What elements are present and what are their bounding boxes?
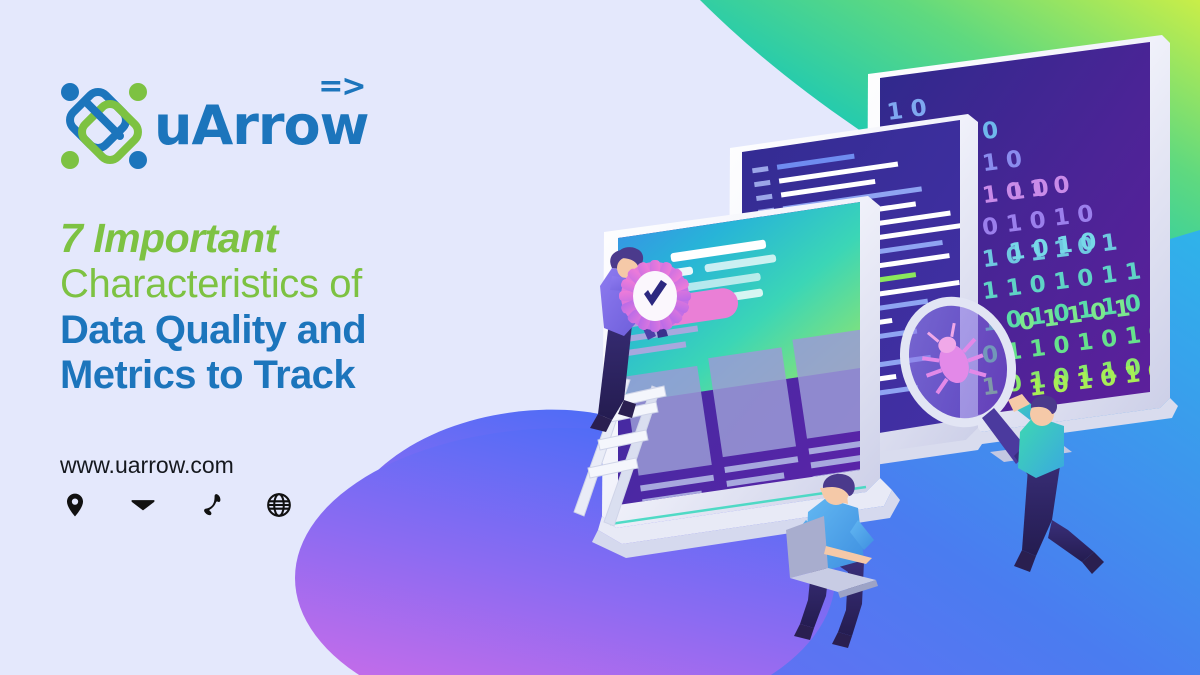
- title-line-2: Characteristics of: [60, 264, 580, 305]
- title-line-4: Metrics to Track: [60, 355, 580, 396]
- contact-icon-row: [62, 492, 292, 518]
- arrow-glyph-icon: =>: [318, 69, 364, 104]
- phone-icon[interactable]: [198, 492, 224, 518]
- envelope-icon[interactable]: [130, 492, 156, 518]
- brand-name: uArrow: [154, 99, 368, 153]
- location-pin-icon[interactable]: [62, 492, 88, 518]
- brand-logo[interactable]: uArrow =>: [58, 78, 368, 174]
- title-line-1: 7 Important: [60, 218, 580, 260]
- title-line-3: Data Quality and: [60, 310, 580, 351]
- interlocking-squares-logo-icon: [58, 78, 150, 174]
- page-title: 7 Important Characteristics of Data Qual…: [60, 218, 580, 396]
- banner-canvas: 1 0 0 1 1 1 0 1 0 1 0 1 0 0 1 0 1 1 0 1 …: [0, 0, 1200, 675]
- globe-icon[interactable]: [266, 492, 292, 518]
- website-url[interactable]: www.uarrow.com: [60, 452, 234, 479]
- svg-text:1 0: 1 0: [1007, 175, 1050, 206]
